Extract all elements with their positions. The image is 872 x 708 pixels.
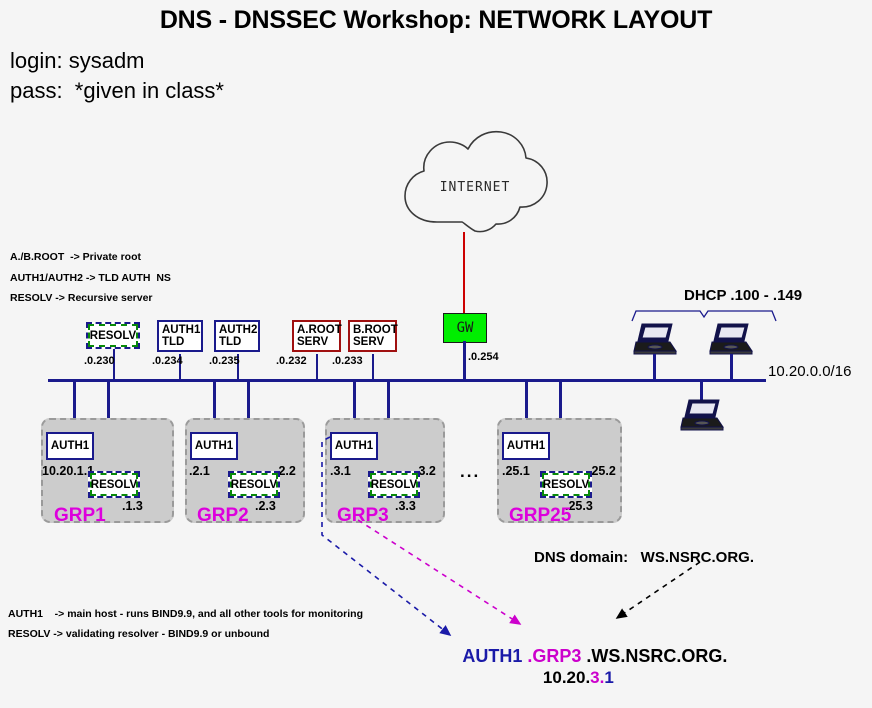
fqdn-host: AUTH1 [462,646,522,666]
grp3-resolv-label: RESOLV [371,479,417,491]
server-resolv-label: RESOLV [90,330,136,342]
grp2-resolv-label: RESOLV [231,479,277,491]
arrow-auth1-host [322,437,450,635]
fqdn-ip-line: 10.20.3.1 [524,648,614,708]
grp25-resolv-label: RESOLV [543,479,589,491]
arrow-grp3-label [358,520,520,624]
network-diagram-canvas: DNS - DNSSEC Workshop: NETWORK LAYOUT lo… [0,0,872,671]
grp1-resolv-label: RESOLV [91,479,137,491]
dns-domain-caption: DNS domain: WS.NSRC.ORG. [534,549,754,566]
arrow-dns-domain [617,562,700,618]
